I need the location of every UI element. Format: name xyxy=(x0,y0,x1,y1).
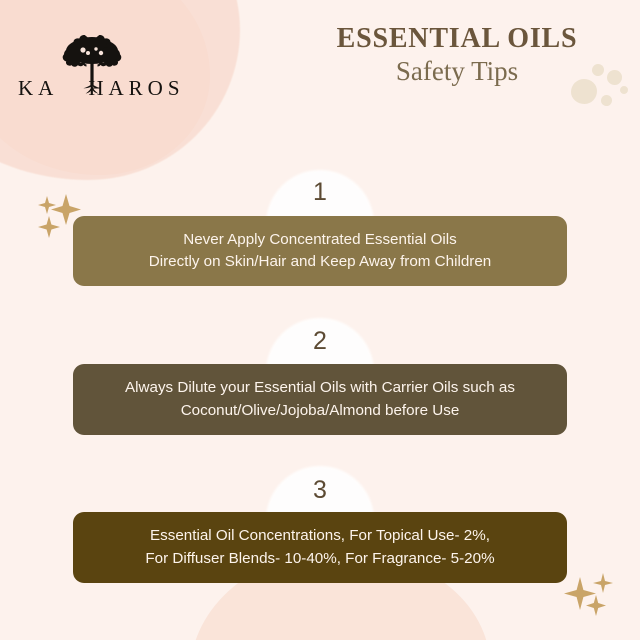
tip-text-2: Always Dilute your Essential Oils with C… xyxy=(109,377,531,421)
sparkle-group-bottom-right xyxy=(558,565,633,635)
tip-number-1: 1 xyxy=(0,180,640,205)
brand-logo: KAHAROS xyxy=(18,34,198,106)
tip-box-1[interactable]: Never Apply Concentrated Essential Oils … xyxy=(73,216,567,286)
page-subtitle: Safety Tips xyxy=(312,56,602,87)
tip-box-3[interactable]: Essential Oil Concentrations, For Topica… xyxy=(73,512,567,583)
droplet-icon xyxy=(601,95,612,106)
brand-wordmark-right: HAROS xyxy=(88,76,184,100)
tip-text-1: Never Apply Concentrated Essential Oils … xyxy=(133,229,507,273)
brand-wordmark: KAHAROS xyxy=(18,76,198,101)
tip-box-2[interactable]: Always Dilute your Essential Oils with C… xyxy=(73,364,567,435)
droplet-icon xyxy=(607,70,622,85)
sparkle-icon xyxy=(558,565,633,635)
poster-title-block: ESSENTIAL OILS Safety Tips xyxy=(312,24,602,87)
droplet-icon xyxy=(571,79,597,104)
droplet-icon xyxy=(592,64,604,76)
brand-wordmark-left: KA xyxy=(18,76,58,100)
tip-text-3: Essential Oil Concentrations, For Topica… xyxy=(129,525,510,569)
page-title: ESSENTIAL OILS xyxy=(312,24,602,53)
tip-number-3: 3 xyxy=(0,478,640,503)
poster-header: KAHAROS ESSENTIAL OILS Safety Tips xyxy=(0,0,640,165)
infographic-poster: KAHAROS ESSENTIAL OILS Safety Tips xyxy=(0,0,640,640)
droplet-icon xyxy=(620,86,628,94)
tip-number-2: 2 xyxy=(0,329,640,354)
